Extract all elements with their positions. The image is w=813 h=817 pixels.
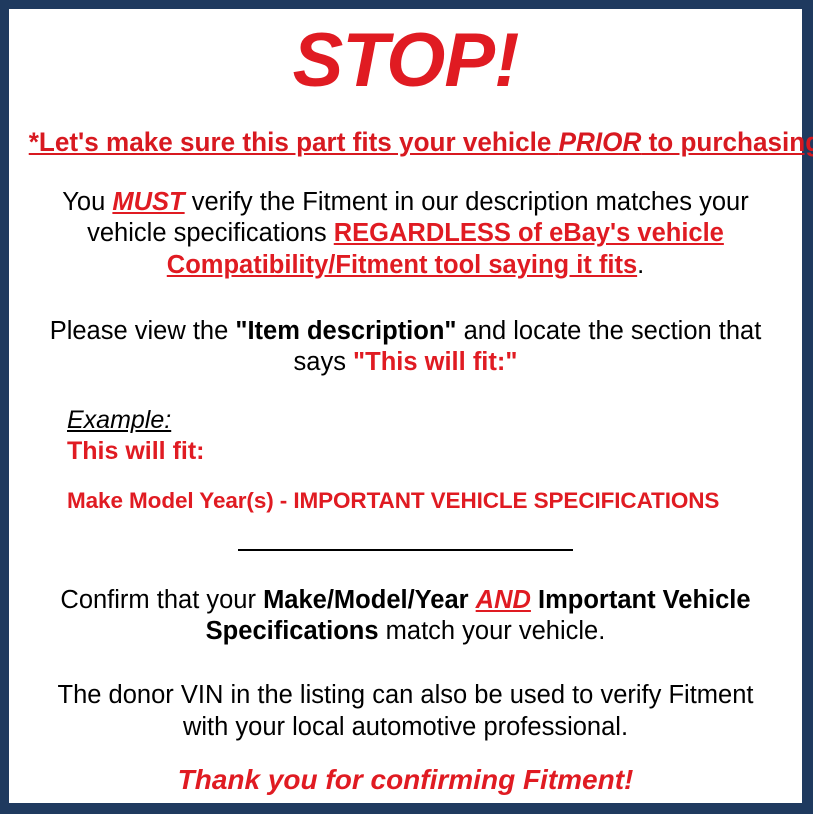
subtitle-text-tail: to purchasing* — [641, 127, 813, 157]
confirm-text-tail: match your vehicle. — [379, 617, 606, 645]
confirm-emphasis-and: AND — [476, 586, 531, 614]
fitment-notice-card: STOP! *Let's make sure this part fits yo… — [0, 0, 813, 814]
confirm-space-2 — [531, 586, 538, 614]
confirm-text-lead: Confirm that your — [60, 586, 263, 614]
paragraph-donor-vin: The donor VIN in the listing can also be… — [23, 680, 788, 743]
divider-container — [23, 541, 788, 559]
fitment-subtitle: *Let's make sure this part fits your veh… — [29, 129, 783, 157]
verify-emphasis-must: MUST — [112, 188, 184, 216]
example-block: Example: This will fit: Make Model Year(… — [23, 407, 788, 514]
closing-thank-you: Thank you for confirming Fitment! — [23, 765, 788, 796]
horizontal-rule-icon — [238, 549, 573, 551]
example-vehicle-spec-line: Make Model Year(s) - IMPORTANT VEHICLE S… — [67, 489, 788, 514]
paragraph-confirm-match: Confirm that your Make/Model/Year AND Im… — [23, 585, 788, 648]
notice-content: STOP! *Let's make sure this part fits yo… — [9, 23, 802, 817]
description-text-lead: Please view the — [50, 317, 236, 345]
description-emphasis-item-description: "Item description" — [235, 317, 456, 345]
example-label: Example: — [67, 407, 171, 435]
confirm-emphasis-make-model-year: Make/Model/Year — [263, 586, 469, 614]
confirm-space-1 — [469, 586, 476, 614]
verify-text-lead: You — [62, 188, 112, 216]
verify-text-tail: . — [637, 251, 644, 279]
subtitle-emphasis-prior: PRIOR — [559, 127, 642, 157]
paragraph-verify-fitment: You MUST verify the Fitment in our descr… — [23, 187, 788, 282]
example-this-will-fit: This will fit: — [67, 437, 788, 466]
paragraph-item-description: Please view the "Item description" and l… — [23, 316, 788, 379]
subtitle-text-lead: *Let's make sure this part fits your veh… — [29, 127, 559, 157]
description-emphasis-this-will-fit: "This will fit:" — [353, 348, 517, 376]
stop-headline: STOP! — [23, 23, 788, 99]
